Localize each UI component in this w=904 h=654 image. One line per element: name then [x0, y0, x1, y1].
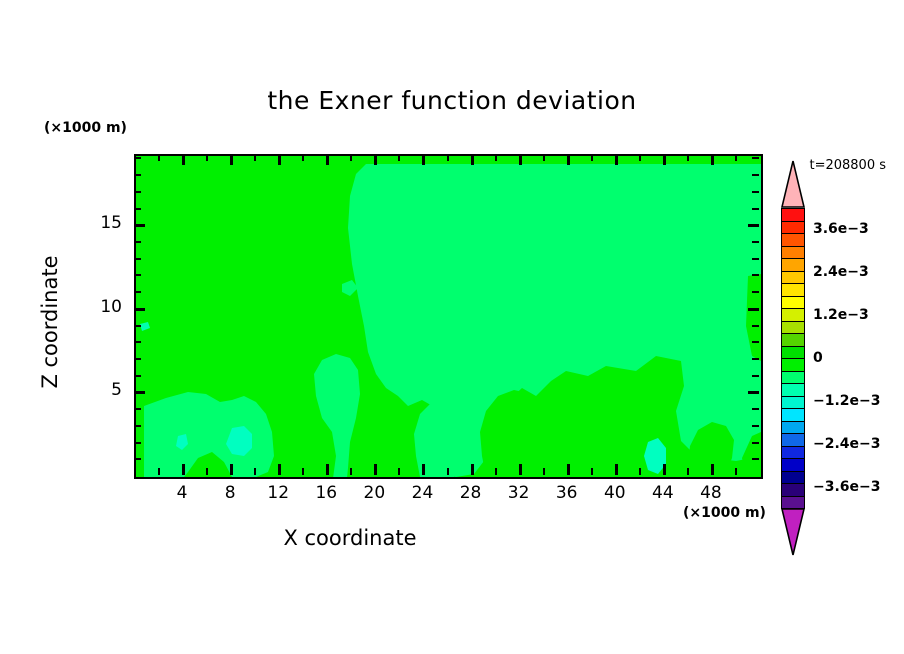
x-major-tick-top-20 [374, 154, 377, 165]
y-minor-tick-13 [134, 258, 141, 260]
colorbar-label-0: 3.6e−3 [813, 221, 869, 237]
y-minor-tick-right-3 [752, 425, 759, 427]
x-major-tick-28 [471, 464, 474, 475]
x-minor-tick-top-38 [591, 154, 593, 161]
y-minor-tick-right-4 [752, 408, 759, 410]
y-minor-tick-9 [134, 325, 141, 327]
x-major-tick-top-44 [663, 154, 666, 165]
x-minor-tick-top-42 [639, 154, 641, 161]
x-minor-tick-top-22 [398, 154, 400, 161]
x-tick-label-36: 36 [547, 483, 587, 503]
y-tick-label-10: 10 [82, 297, 122, 317]
x-minor-tick-top-10 [254, 154, 256, 161]
x-major-tick-4 [182, 464, 185, 475]
y-minor-tick-8 [134, 341, 141, 343]
y-minor-tick-right-6 [752, 375, 759, 377]
y-minor-tick-right-7 [752, 358, 759, 360]
x-major-tick-top-48 [711, 154, 714, 165]
x-major-tick-top-24 [422, 154, 425, 165]
y-minor-tick-16 [134, 208, 141, 210]
x-major-tick-36 [567, 464, 570, 475]
colorbar-band-8 [781, 308, 805, 322]
x-major-tick-top-4 [182, 154, 185, 165]
x-major-tick-24 [422, 464, 425, 475]
x-major-tick-top-12 [278, 154, 281, 165]
y-minor-tick-right-13 [752, 258, 759, 260]
x-minor-tick-10 [254, 468, 256, 475]
colorbar-band-20 [781, 458, 805, 472]
x-major-tick-48 [711, 464, 714, 475]
x-major-tick-12 [278, 464, 281, 475]
y-minor-tick-right-19 [752, 157, 759, 159]
colorbar-band-5 [781, 271, 805, 285]
colorbar-band-1 [781, 221, 805, 235]
x-tick-label-32: 32 [499, 483, 539, 503]
y-axis-title: Z coordinate [38, 212, 62, 432]
x-major-tick-8 [230, 464, 233, 475]
y-minor-tick-right-16 [752, 208, 759, 210]
timestamp-annotation: t=208800 s [809, 158, 886, 173]
x-tick-label-20: 20 [354, 483, 394, 503]
y-minor-tick-1 [134, 458, 141, 460]
colorbar-band-6 [781, 283, 805, 297]
y-major-tick-15 [134, 224, 145, 227]
colorbar-band-22 [781, 483, 805, 497]
x-minor-tick-top-14 [302, 154, 304, 161]
colorbar-over-arrow [781, 160, 805, 208]
colorbar-label-2: 1.2e−3 [813, 307, 869, 323]
x-major-tick-16 [326, 464, 329, 475]
y-minor-tick-right-14 [752, 241, 759, 243]
colorbar-label-3: 0 [813, 350, 823, 366]
x-minor-tick-46 [687, 468, 689, 475]
colorbar-band-19 [781, 446, 805, 460]
x-tick-label-24: 24 [402, 483, 442, 503]
colorbar-band-18 [781, 433, 805, 447]
x-minor-tick-30 [495, 468, 497, 475]
colorbar-label-5: −2.4e−3 [813, 436, 881, 452]
x-minor-tick-top-6 [206, 154, 208, 161]
y-minor-tick-right-1 [752, 458, 759, 460]
y-major-tick-5 [134, 391, 145, 394]
y-tick-label-15: 15 [82, 213, 122, 233]
y-minor-tick-right-11 [752, 291, 759, 293]
x-minor-tick-top-50 [735, 154, 737, 161]
y-minor-tick-14 [134, 241, 141, 243]
y-minor-tick-right-8 [752, 341, 759, 343]
colorbar-band-0 [781, 208, 805, 222]
x-tick-label-40: 40 [595, 483, 635, 503]
x-minor-tick-22 [398, 468, 400, 475]
colorbar-band-15 [781, 396, 805, 410]
x-tick-label-4: 4 [162, 483, 202, 503]
x-tick-label-16: 16 [306, 483, 346, 503]
x-tick-label-44: 44 [643, 483, 683, 503]
x-tick-label-28: 28 [451, 483, 491, 503]
x-minor-tick-6 [206, 468, 208, 475]
colorbar-band-4 [781, 258, 805, 272]
x-minor-tick-50 [735, 468, 737, 475]
colorbar-band-11 [781, 346, 805, 360]
y-minor-tick-right-2 [752, 442, 759, 444]
x-minor-tick-18 [350, 468, 352, 475]
x-major-tick-top-40 [615, 154, 618, 165]
colorbar-label-1: 2.4e−3 [813, 264, 869, 280]
y-minor-tick-19 [134, 157, 141, 159]
colorbar-band-2 [781, 233, 805, 247]
y-tick-label-5: 5 [82, 380, 122, 400]
x-major-tick-top-16 [326, 154, 329, 165]
x-minor-tick-top-30 [495, 154, 497, 161]
y-minor-tick-11 [134, 291, 141, 293]
x-tick-label-8: 8 [210, 483, 250, 503]
y-minor-tick-3 [134, 425, 141, 427]
colorbar-band-16 [781, 408, 805, 422]
y-minor-tick-6 [134, 375, 141, 377]
x-minor-tick-26 [447, 468, 449, 475]
colorbar: 3.6e−32.4e−31.2e−30−1.2e−3−2.4e−3−3.6e−3 [781, 208, 805, 508]
x-major-tick-top-32 [519, 154, 522, 165]
x-major-tick-44 [663, 464, 666, 475]
y-minor-tick-right-17 [752, 191, 759, 193]
x-axis-title: X coordinate [0, 526, 700, 550]
colorbar-band-14 [781, 383, 805, 397]
colorbar-band-21 [781, 471, 805, 485]
x-minor-tick-38 [591, 468, 593, 475]
x-minor-tick-top-34 [543, 154, 545, 161]
x-major-tick-40 [615, 464, 618, 475]
y-major-tick-right-5 [748, 391, 759, 394]
y-minor-tick-12 [134, 274, 141, 276]
x-major-tick-top-28 [471, 154, 474, 165]
x-tick-label-48: 48 [691, 483, 731, 503]
x-minor-tick-2 [158, 468, 160, 475]
y-minor-tick-17 [134, 191, 141, 193]
x-axis-unit-label: (×1000 m) [683, 505, 766, 521]
y-major-tick-right-15 [748, 224, 759, 227]
x-minor-tick-14 [302, 468, 304, 475]
y-major-tick-10 [134, 308, 145, 311]
colorbar-band-10 [781, 333, 805, 347]
y-minor-tick-right-9 [752, 325, 759, 327]
colorbar-band-9 [781, 321, 805, 335]
contour-field [136, 156, 761, 477]
y-minor-tick-4 [134, 408, 141, 410]
colorbar-label-6: −3.6e−3 [813, 479, 881, 495]
y-minor-tick-right-12 [752, 274, 759, 276]
colorbar-band-13 [781, 371, 805, 385]
page-title: the Exner function deviation [0, 86, 904, 115]
x-major-tick-top-8 [230, 154, 233, 165]
colorbar-under-arrow [781, 508, 805, 556]
x-minor-tick-top-2 [158, 154, 160, 161]
colorbar-band-17 [781, 421, 805, 435]
y-axis-unit-label: (×1000 m) [44, 120, 127, 136]
x-minor-tick-34 [543, 468, 545, 475]
x-minor-tick-42 [639, 468, 641, 475]
y-minor-tick-18 [134, 174, 141, 176]
x-major-tick-20 [374, 464, 377, 475]
y-minor-tick-2 [134, 442, 141, 444]
colorbar-band-12 [781, 358, 805, 372]
colorbar-band-3 [781, 246, 805, 260]
colorbar-label-4: −1.2e−3 [813, 393, 881, 409]
colorbar-band-23 [781, 496, 805, 510]
x-major-tick-top-36 [567, 154, 570, 165]
x-minor-tick-top-46 [687, 154, 689, 161]
y-major-tick-right-10 [748, 308, 759, 311]
x-tick-label-12: 12 [258, 483, 298, 503]
colorbar-band-7 [781, 296, 805, 310]
y-minor-tick-7 [134, 358, 141, 360]
x-minor-tick-top-18 [350, 154, 352, 161]
x-minor-tick-top-26 [447, 154, 449, 161]
x-major-tick-32 [519, 464, 522, 475]
contour-plot-area [134, 154, 763, 479]
y-minor-tick-right-18 [752, 174, 759, 176]
